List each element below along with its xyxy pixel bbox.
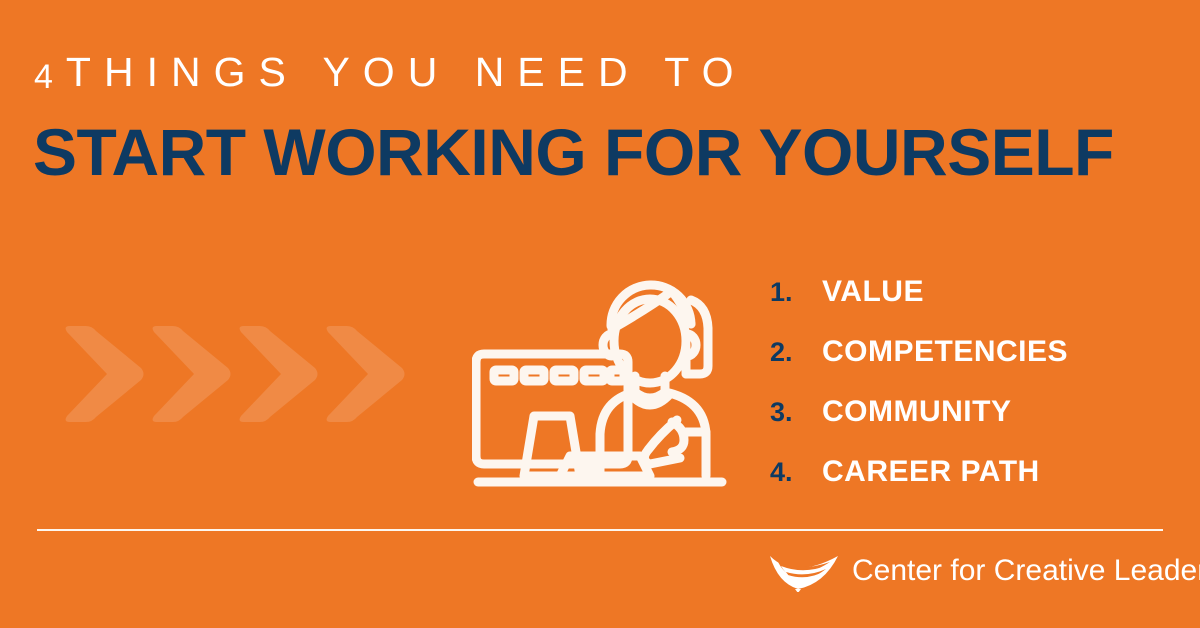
- ccl-swoosh-logo-icon: [768, 550, 842, 592]
- list-item-number: 3.: [770, 399, 822, 426]
- list-item: 3. COMMUNITY: [770, 382, 1190, 442]
- list-item-number: 1.: [770, 279, 822, 306]
- woman-at-computer-illustration: [472, 244, 734, 496]
- brand-logo-text: Center for Creative Leadership®: [852, 556, 1200, 586]
- chevron-right-icon: [236, 322, 322, 426]
- page-title: START WORKING FOR YOURSELF: [33, 112, 1114, 192]
- list-item-label: CAREER PATH: [822, 457, 1040, 487]
- chevron-right-icon: [323, 322, 409, 426]
- list-item: 2. COMPETENCIES: [770, 322, 1190, 382]
- list-item-label: COMMUNITY: [822, 397, 1011, 427]
- list-item: 4. CAREER PATH: [770, 442, 1190, 502]
- kicker-line: 4THINGS YOU NEED TO: [34, 48, 746, 99]
- brand-logo: Center for Creative Leadership®: [768, 548, 1200, 594]
- list-item-label: COMPETENCIES: [822, 337, 1068, 367]
- chevron-right-icon: [149, 322, 235, 426]
- chevron-right-icon: [62, 322, 148, 426]
- infographic-canvas: 4THINGS YOU NEED TO START WORKING FOR YO…: [0, 0, 1200, 628]
- key-points-list: 1. VALUE 2. COMPETENCIES 3. COMMUNITY 4.…: [770, 262, 1190, 502]
- brand-logo-wordmark: Center for Creative Leadership: [852, 554, 1200, 587]
- kicker-number: 4: [34, 58, 66, 96]
- list-item-number: 4.: [770, 459, 822, 486]
- kicker-text: THINGS YOU NEED TO: [66, 49, 747, 95]
- list-item-label: VALUE: [822, 277, 924, 307]
- list-item: 1. VALUE: [770, 262, 1190, 322]
- footer-divider: [37, 529, 1163, 531]
- chevron-decoration-group: [62, 322, 422, 426]
- list-item-number: 2.: [770, 339, 822, 366]
